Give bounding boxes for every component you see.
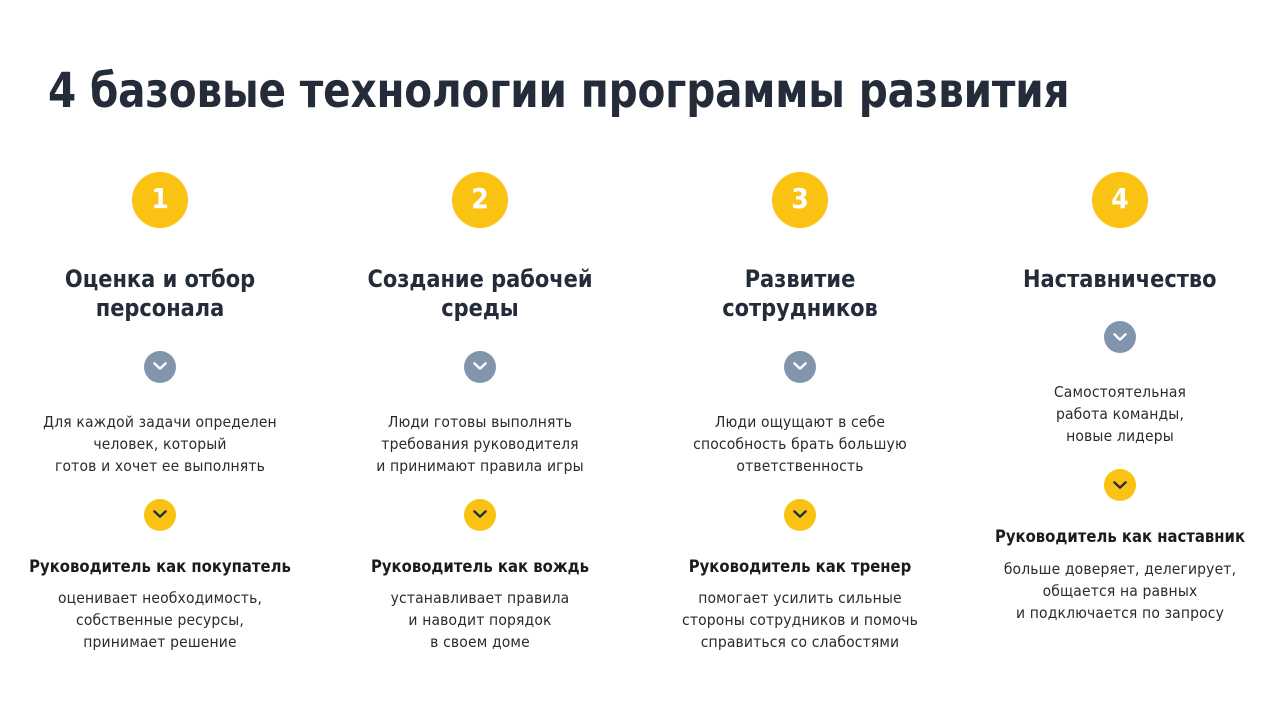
role-label-2: Руководитель как вождь (371, 557, 589, 577)
slide-root: 4 базовые технологии программы развития … (0, 0, 1280, 720)
step-number-2: 2 (471, 185, 489, 213)
chevron-down-icon (1104, 321, 1136, 353)
chevron-down-icon (1104, 469, 1136, 501)
step-number-3: 3 (791, 185, 809, 213)
step-number-badge-3: 3 (772, 172, 828, 228)
role-label-3: Руководитель как тренер (689, 557, 912, 577)
role-description-2: устанавливает правила и наводит порядок … (391, 587, 570, 653)
technology-heading-3: Развитие сотрудников (664, 265, 936, 324)
page-title: 4 базовые технологии программы развития (48, 65, 1167, 119)
technology-columns: 1 Оценка и отбор персонала Для каждой за… (0, 160, 1280, 653)
chevron-down-icon (784, 499, 816, 531)
technology-column-2: 2 Создание рабочей среды Люди готовы вып… (320, 160, 640, 653)
chevron-down-icon (464, 499, 496, 531)
chevron-down-icon (464, 351, 496, 383)
technology-column-4: 4 Наставничество Самостоятельная работа … (960, 160, 1280, 624)
technology-description-2: Люди готовы выполнять требования руковод… (376, 411, 584, 477)
technology-heading-2: Создание рабочей среды (344, 265, 616, 324)
step-number-badge-2: 2 (452, 172, 508, 228)
step-number-badge-1: 1 (132, 172, 188, 228)
step-number-badge-4: 4 (1092, 172, 1148, 228)
role-description-3: помогает усилить сильные стороны сотрудн… (682, 587, 918, 653)
technology-description-4: Самостоятельная работа команды, новые ли… (1054, 381, 1186, 447)
step-number-1: 1 (151, 185, 169, 213)
technology-column-1: 1 Оценка и отбор персонала Для каждой за… (0, 160, 320, 653)
technology-description-1: Для каждой задачи определен человек, кот… (43, 411, 277, 477)
role-description-4: больше доверяет, делегирует, общается на… (1004, 558, 1236, 624)
step-number-4: 4 (1111, 185, 1129, 213)
chevron-down-icon (784, 351, 816, 383)
technology-description-3: Люди ощущают в себе способность брать бо… (693, 411, 907, 477)
technology-heading-1: Оценка и отбор персонала (24, 265, 296, 324)
role-label-1: Руководитель как покупатель (29, 557, 291, 577)
chevron-down-icon (144, 351, 176, 383)
role-description-1: оценивает необходимость, собственные рес… (58, 587, 262, 653)
technology-heading-4: Наставничество (1023, 265, 1217, 294)
technology-column-3: 3 Развитие сотрудников Люди ощущают в се… (640, 160, 960, 653)
role-label-4: Руководитель как наставник (995, 527, 1245, 547)
chevron-down-icon (144, 499, 176, 531)
